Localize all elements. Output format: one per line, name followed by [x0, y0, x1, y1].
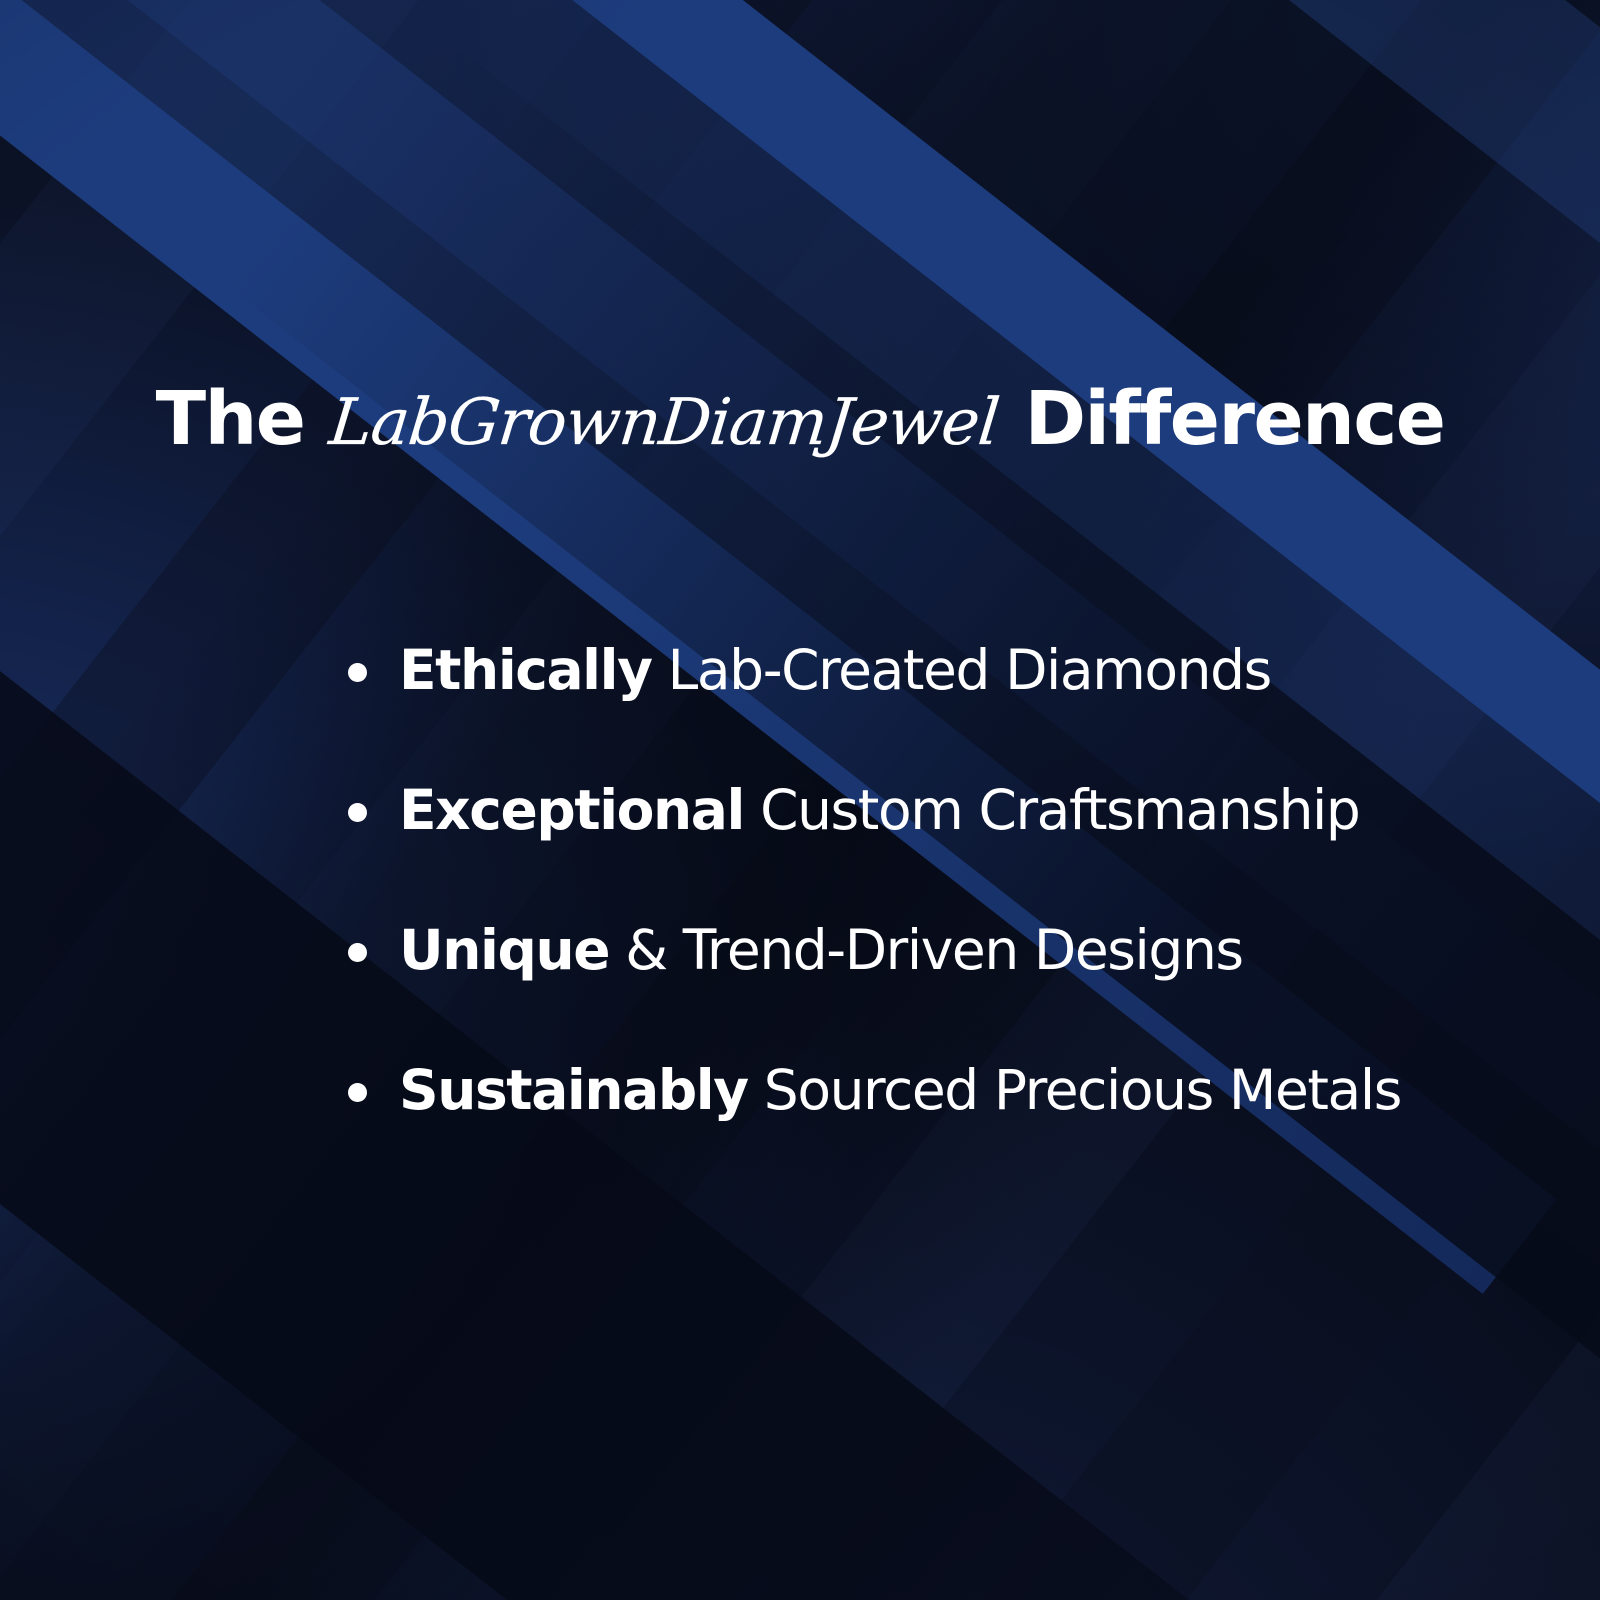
list-item-lead: Exceptional	[399, 778, 744, 842]
list-item-rest: Sourced Precious Metals	[748, 1058, 1401, 1122]
list-item-rest: Custom Craftsmanship	[744, 778, 1359, 842]
bullet-dot-icon	[348, 943, 367, 962]
headline-prefix: The	[156, 376, 305, 462]
list-item-lead: Sustainably	[399, 1058, 748, 1122]
list-item-rest: & Trend-Driven Designs	[609, 918, 1243, 982]
brand-signature-wordmark: LabGrownDiamJewel	[327, 391, 1002, 455]
list-item-label: Ethically Lab-Created Diamonds	[399, 640, 1271, 701]
list-item-rest: Lab-Created Diamonds	[652, 638, 1271, 702]
benefits-list: Ethically Lab-Created Diamonds Exception…	[0, 600, 1600, 1160]
bullet-dot-icon	[348, 1083, 367, 1102]
headline-suffix: Difference	[1025, 376, 1445, 462]
list-item: Unique & Trend-Driven Designs	[0, 880, 1600, 1020]
bullet-dot-icon	[348, 663, 367, 682]
list-item-label: Exceptional Custom Craftsmanship	[399, 780, 1359, 841]
list-item-label: Unique & Trend-Driven Designs	[399, 920, 1243, 981]
list-item: Ethically Lab-Created Diamonds	[0, 600, 1600, 740]
list-item: Exceptional Custom Craftsmanship	[0, 740, 1600, 880]
list-item-label: Sustainably Sourced Precious Metals	[399, 1060, 1401, 1121]
list-item-lead: Ethically	[399, 638, 652, 702]
bullet-dot-icon	[348, 803, 367, 822]
list-item-lead: Unique	[399, 918, 609, 982]
list-item: Sustainably Sourced Precious Metals	[0, 1020, 1600, 1160]
promo-poster: TheLabGrownDiamJewelDifference Ethically…	[0, 0, 1600, 1600]
page-title: TheLabGrownDiamJewelDifference	[0, 382, 1600, 456]
poster-content: TheLabGrownDiamJewelDifference Ethically…	[0, 0, 1600, 1600]
